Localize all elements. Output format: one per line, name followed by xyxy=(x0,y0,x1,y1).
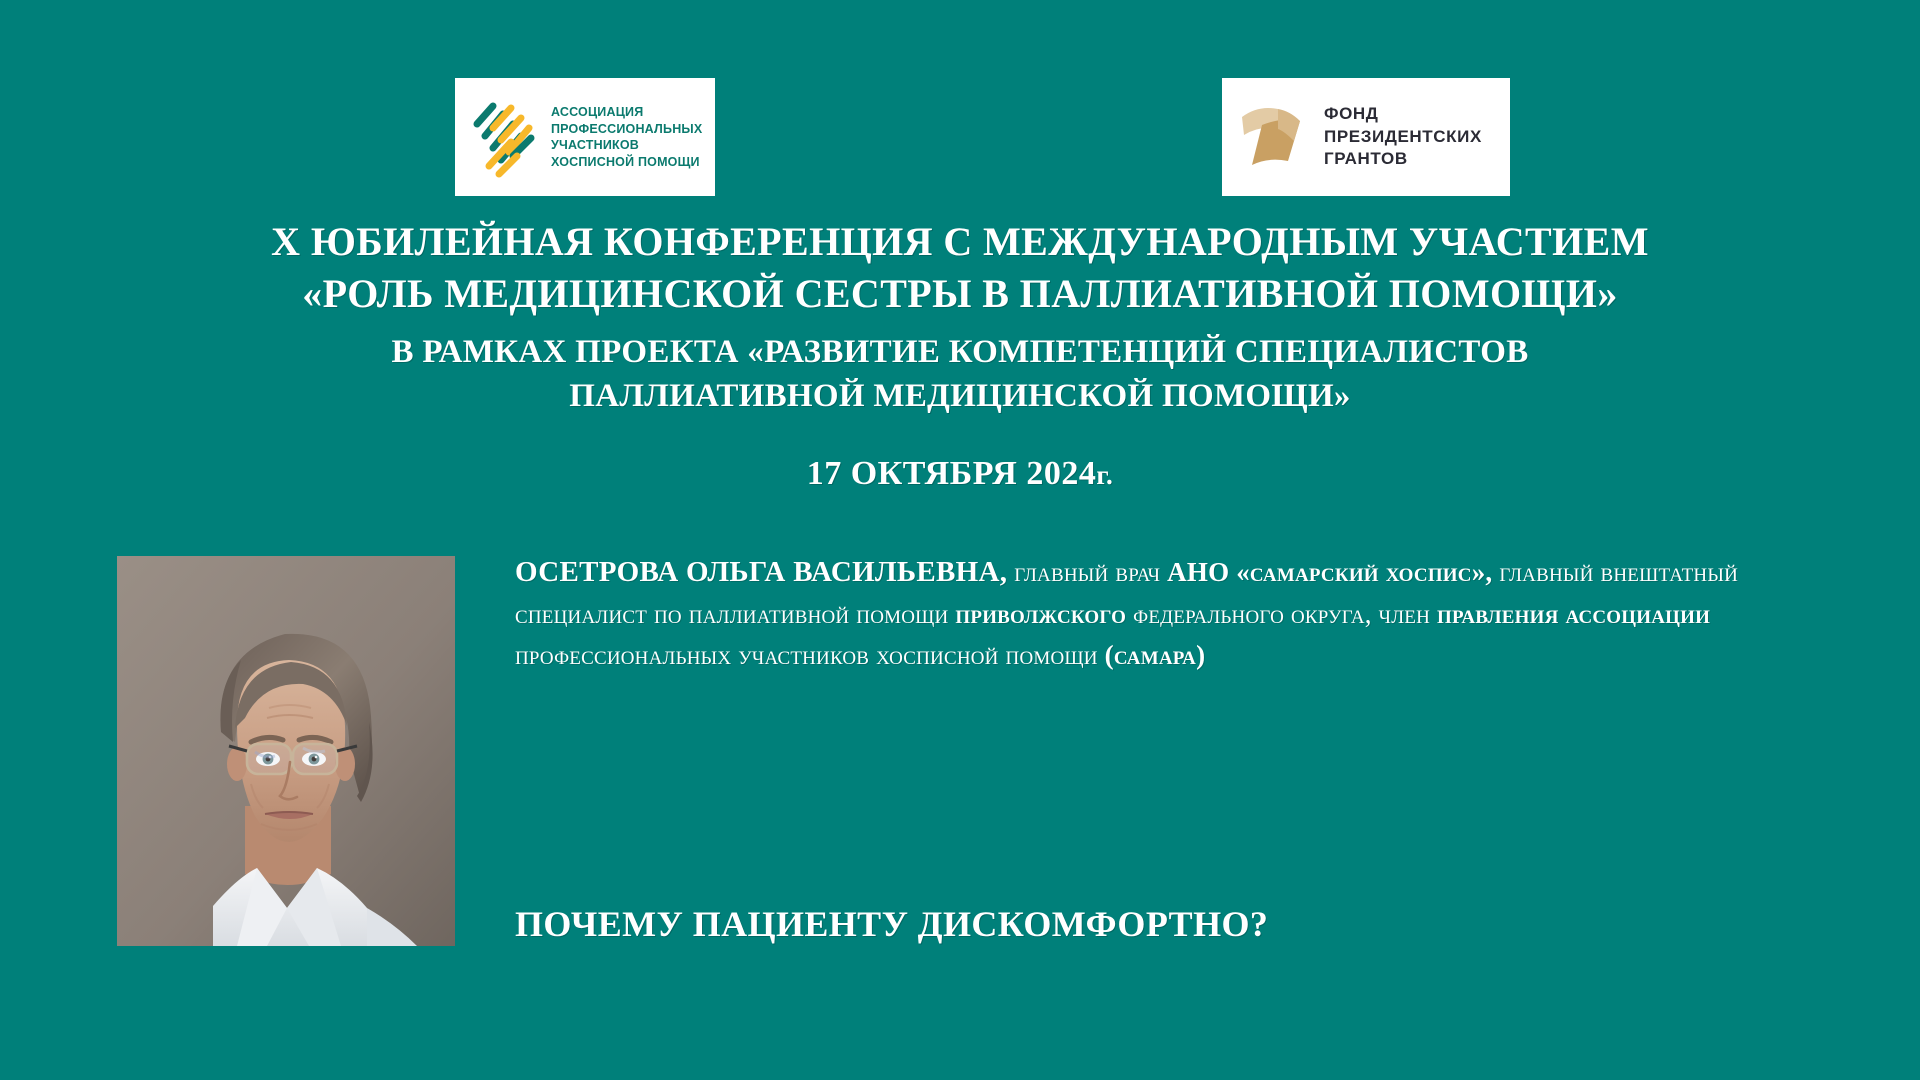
grants-logo-line-2: Президентских xyxy=(1324,126,1482,149)
logo-row: Ассоциация профессиональных участников х… xyxy=(0,78,1920,200)
speaker-bio: ОСЕТРОВА ОЛЬГА ВАСИЛЬЕВНА, главный врач … xyxy=(515,550,1815,676)
speaker-name: ОСЕТРОВА ОЛЬГА ВАСИЛЬЕВНА, xyxy=(515,556,1007,588)
speaker-role-association: Ассоциации xyxy=(1565,599,1710,629)
event-date-value: 17 ОКТЯБРЯ 2024 xyxy=(807,455,1097,492)
speaker-role-part1: главный врач xyxy=(1014,557,1160,587)
association-logo-line-4: хосписной помощи xyxy=(551,154,702,171)
speaker-role-part3: федерального округа, член xyxy=(1133,599,1430,629)
grants-logo-card: Фонд Президентских Грантов xyxy=(1222,78,1510,196)
page-title: X ЮБИЛЕЙНАЯ КОНФЕРЕНЦИЯ С МЕЖДУНАРОДНЫМ … xyxy=(0,216,1920,320)
speaker-role-part4: профессиональных участников хосписной по… xyxy=(515,640,1098,670)
speaker-org-abbr: АНО xyxy=(1167,557,1229,587)
presidential-grants-flag-icon xyxy=(1238,99,1312,175)
association-logo-card: Ассоциация профессиональных участников х… xyxy=(455,78,715,196)
grants-logo-line-3: Грантов xyxy=(1324,148,1482,171)
speaker-role-city: (Самара) xyxy=(1105,640,1206,670)
page-subtitle: В РАМКАХ ПРОЕКТА «РАЗВИТИЕ КОМПЕТЕНЦИЙ С… xyxy=(0,330,1920,418)
association-logo-text: Ассоциация профессиональных участников х… xyxy=(551,104,702,170)
event-date-suffix: г. xyxy=(1096,460,1113,490)
subtitle-line-2: ПАЛЛИАТИВНОЙ МЕДИЦИНСКОЙ ПОМОЩИ» xyxy=(0,374,1920,418)
event-date: 17 ОКТЯБРЯ 2024г. xyxy=(0,455,1920,493)
grants-logo-text: Фонд Президентских Грантов xyxy=(1324,103,1482,171)
title-line-2: «РОЛЬ МЕДИЦИНСКОЙ СЕСТРЫ В ПАЛЛИАТИВНОЙ … xyxy=(0,268,1920,320)
association-logo-line-1: Ассоциация xyxy=(551,104,702,121)
speaker-org-name: «Самарский хоспис», xyxy=(1236,557,1492,587)
association-logo-line-3: участников xyxy=(551,137,702,154)
title-line-1: X ЮБИЛЕЙНАЯ КОНФЕРЕНЦИЯ С МЕЖДУНАРОДНЫМ … xyxy=(0,216,1920,268)
speaker-photo xyxy=(117,556,455,946)
association-logo-line-2: профессиональных xyxy=(551,121,702,138)
speaker-role-board: Правления xyxy=(1437,599,1559,629)
grants-logo-line-1: Фонд xyxy=(1324,103,1482,126)
question-heading: ПОЧЕМУ ПАЦИЕНТУ ДИСКОМФОРТНО? xyxy=(515,903,1268,945)
subtitle-line-1: В РАМКАХ ПРОЕКТА «РАЗВИТИЕ КОМПЕТЕНЦИЙ С… xyxy=(0,330,1920,374)
speaker-role-region: Приволжского xyxy=(955,599,1126,629)
interlocking-hands-icon xyxy=(467,94,541,180)
slide-root: Ассоциация профессиональных участников х… xyxy=(0,0,1920,1080)
